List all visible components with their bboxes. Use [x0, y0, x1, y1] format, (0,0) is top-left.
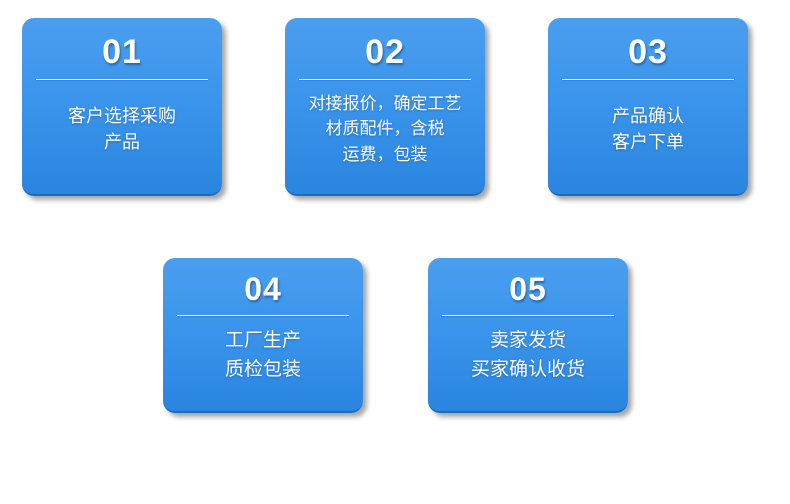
description-line: 产品确认	[612, 103, 684, 129]
process-card-05[interactable]: 05 卖家发货 买家确认收货	[428, 258, 628, 413]
step-description-02: 对接报价，确定工艺 材质配件，含税 运费，包装	[293, 80, 477, 182]
process-card-04[interactable]: 04 工厂生产 质检包装	[163, 258, 363, 413]
step-number-01: 01	[102, 34, 142, 71]
description-line: 质检包装	[225, 356, 301, 385]
process-row-top: 01 客户选择采购 产品 02 对接报价，确定工艺 材质配件，含税 运费，包装 …	[0, 18, 790, 196]
step-description-01: 客户选择采购 产品	[30, 80, 214, 182]
description-line: 材质配件，含税	[326, 116, 445, 142]
description-line: 工厂生产	[225, 327, 301, 356]
process-card-03[interactable]: 03 产品确认 客户下单	[548, 18, 748, 196]
description-line: 运费，包装	[343, 142, 428, 168]
description-line: 卖家发货	[490, 327, 566, 356]
process-card-02[interactable]: 02 对接报价，确定工艺 材质配件，含税 运费，包装	[285, 18, 485, 196]
step-description-03: 产品确认 客户下单	[556, 80, 740, 182]
step-number-02: 02	[365, 34, 405, 71]
process-row-bottom: 04 工厂生产 质检包装 05 卖家发货 买家确认收货	[0, 258, 790, 413]
description-line: 客户下单	[612, 129, 684, 155]
description-line: 买家确认收货	[471, 356, 585, 385]
step-description-04: 工厂生产 质检包装	[171, 316, 355, 399]
process-flow-graphic: 01 客户选择采购 产品 02 对接报价，确定工艺 材质配件，含税 运费，包装 …	[0, 0, 790, 504]
step-description-05: 卖家发货 买家确认收货	[436, 316, 620, 399]
process-card-01[interactable]: 01 客户选择采购 产品	[22, 18, 222, 196]
description-line: 客户选择采购	[68, 103, 176, 129]
step-number-03: 03	[628, 34, 668, 71]
step-number-05: 05	[509, 272, 547, 307]
description-line: 对接报价，确定工艺	[309, 91, 462, 117]
description-line: 产品	[104, 129, 140, 155]
step-number-04: 04	[244, 272, 282, 307]
